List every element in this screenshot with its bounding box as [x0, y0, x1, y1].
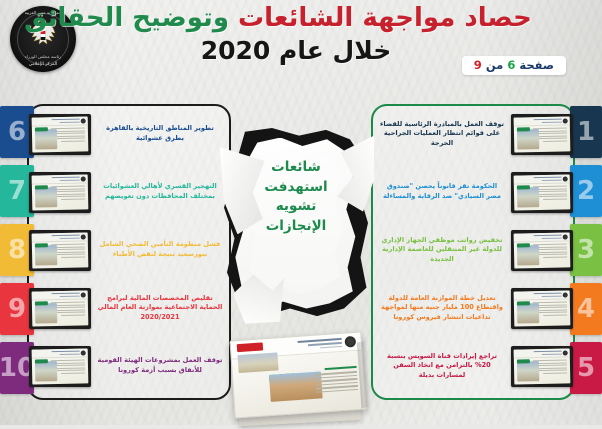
rumor-text: تعديل خطة الموازنة العامة للدولة واقتطاع… [377, 294, 507, 323]
rumor-thumbnail [511, 288, 573, 329]
rumor-item[interactable]: توقف العمل بالمبادرة الرئاسية للقضاء على… [377, 108, 573, 160]
torn-line-3: تشويه [221, 197, 371, 217]
torn-line-2: استهدفت [221, 178, 371, 198]
rumor-thumbnail [29, 172, 91, 213]
number-badge-5: 5 [570, 342, 602, 394]
bottom-flyer-card [229, 331, 366, 418]
page-badge-prefix: صفحة [519, 58, 554, 72]
logo-country-label: جمهورية مصر العربية [10, 10, 76, 15]
rumor-text: توقف العمل بمشروعات الهيئة القومية للأنف… [95, 356, 225, 375]
eagle-of-saladin-icon [28, 22, 58, 48]
rumor-item[interactable]: تعديل خطة الموازنة العامة للدولة واقتطاع… [377, 282, 573, 334]
rumor-item[interactable]: توقف العمل بمشروعات الهيئة القومية للأنف… [29, 340, 225, 392]
torn-paper-graphic: شائعات استهدفت تشويه الإنجازات [221, 128, 371, 318]
rumor-item[interactable]: تقليص المخصصات المالية لبرامج الحماية ال… [29, 282, 225, 334]
rumor-thumbnail [511, 114, 573, 155]
infographic-page: جمهورية مصر العربية رئاسة مجلس الوزراء ا… [0, 0, 602, 425]
rumor-thumbnail [29, 346, 91, 387]
torn-paper-headline: شائعات استهدفت تشويه الإنجازات [221, 158, 371, 236]
number-badge-1: 1 [570, 106, 602, 158]
rumor-text: تطوير المناطق التاريخية بالقاهرة بطرق عش… [95, 124, 225, 143]
rumor-text: تخفيض رواتب موظفي الجهاز الإداري للدولة … [377, 236, 507, 265]
rumor-item[interactable]: الحكومة تقر قانوناً يحصن "صندوق مصر السي… [377, 166, 573, 218]
rumor-thumbnail [29, 114, 91, 155]
flyer-highlight-line [325, 366, 357, 371]
number-badge-3: 3 [570, 224, 602, 276]
page-badge-of: من [486, 58, 503, 72]
logo-cabinet-label: رئاسة مجلس الوزراء [10, 54, 76, 59]
rumor-item[interactable]: فشل منظومة التأمين الصحي الشامل ببورسعيد… [29, 224, 225, 276]
number-badge-2: 2 [570, 165, 602, 217]
flyer-photo-top [237, 352, 278, 373]
torn-line-4: الإنجازات [221, 217, 371, 237]
rumor-text: الحكومة تقر قانوناً يحصن "صندوق مصر السي… [377, 182, 507, 201]
logo-media-center-label: المركز الإعلامي [10, 62, 76, 67]
rumor-text: توقف العمل بالمبادرة الرئاسية للقضاء على… [377, 120, 507, 149]
rumor-text: تراجع إيرادات قناة السويس بنسبة 20% بالت… [377, 352, 507, 381]
number-badge-4: 4 [570, 283, 602, 335]
rumor-thumbnail [29, 230, 91, 271]
flyer-sheet [229, 331, 366, 418]
torn-line-1: شائعات [221, 158, 371, 178]
title-word-muwajaha: مواجهة الشائعات [238, 3, 455, 33]
rumor-thumbnail [511, 172, 573, 213]
rumor-text: التهجير القسري لأهالي العشوائيات بمختلف … [95, 182, 225, 201]
rumor-thumbnail [511, 346, 573, 387]
rumor-thumbnail [29, 288, 91, 329]
rumor-item[interactable]: تراجع إيرادات قناة السويس بنسبة 20% بالت… [377, 340, 573, 392]
page-badge-total: 9 [474, 58, 482, 72]
rumor-item[interactable]: تطوير المناطق التاريخية بالقاهرة بطرق عش… [29, 108, 225, 160]
rumor-text: فشل منظومة التأمين الصحي الشامل ببورسعيد… [95, 240, 225, 259]
cabinet-media-center-logo: جمهورية مصر العربية رئاسة مجلس الوزراء ا… [10, 6, 76, 72]
right-rumor-list: توقف العمل بالمبادرة الرئاسية للقضاء على… [377, 108, 573, 392]
right-number-rail: 12345 [568, 106, 602, 394]
flyer-body-lines [315, 371, 358, 395]
page-badge-current: 6 [507, 58, 515, 72]
page-number-badge: صفحة 6 من 9 [462, 56, 566, 75]
left-rumor-list: تطوير المناطق التاريخية بالقاهرة بطرق عش… [29, 108, 225, 392]
rumor-item[interactable]: التهجير القسري لأهالي العشوائيات بمختلف … [29, 166, 225, 218]
rumor-thumbnail [511, 230, 573, 271]
title-word-hasad: حصاد [464, 3, 531, 33]
rumor-item[interactable]: تخفيض رواتب موظفي الجهاز الإداري للدولة … [377, 224, 573, 276]
rumor-text: تقليص المخصصات المالية لبرامج الحماية ال… [95, 294, 225, 323]
title-line-1: حصاد مواجهة الشائعات وتوضيح الحقائق [0, 4, 602, 33]
